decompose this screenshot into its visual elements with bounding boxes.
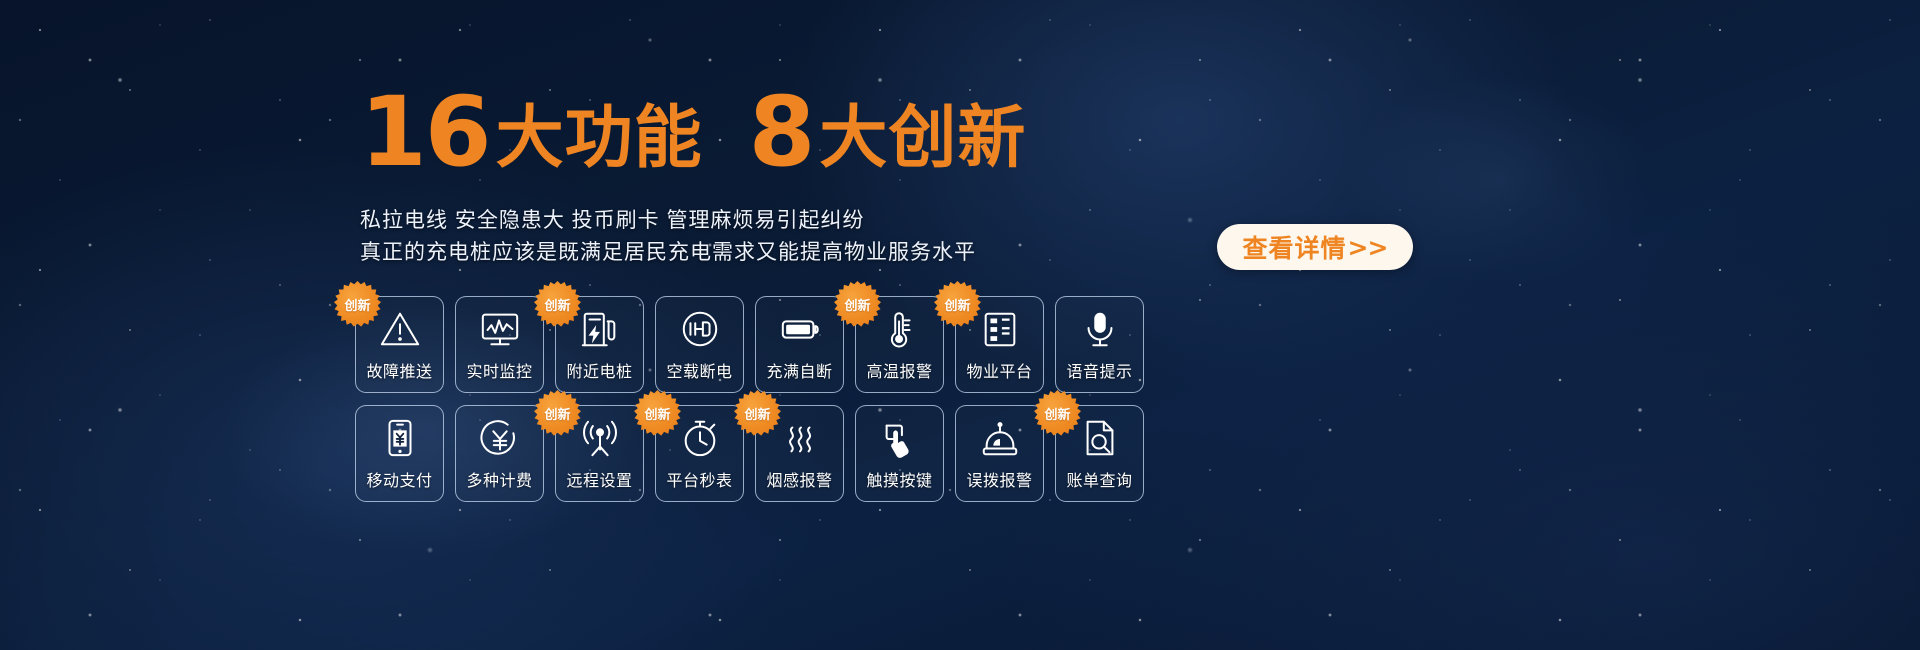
- feature-label: 账单查询: [1066, 467, 1132, 491]
- feature-label: 平台秒表: [666, 467, 732, 491]
- headline-text-innovations: 大创新: [819, 104, 1026, 172]
- view-details-button[interactable]: 查看详情>>: [1217, 224, 1413, 270]
- feature-label: 物业平台: [966, 358, 1032, 382]
- wireless-tower-icon: [577, 415, 623, 461]
- stopwatch-icon: [677, 415, 723, 461]
- feature-tile-故障推送[interactable]: 创新故障推送: [355, 296, 444, 393]
- feature-label: 误拨报警: [966, 467, 1032, 491]
- thermometer-icon: [877, 306, 923, 352]
- feature-tile-附近电桩[interactable]: 创新附近电桩: [555, 296, 644, 393]
- bill-search-icon: [1077, 415, 1123, 461]
- feature-tile-移动支付[interactable]: 移动支付: [355, 405, 444, 502]
- feature-label: 故障推送: [366, 358, 432, 382]
- feature-tile-物业平台[interactable]: 创新物业平台: [955, 296, 1044, 393]
- feature-tile-空载断电[interactable]: 空载断电: [655, 296, 744, 393]
- smoke-detector-icon: [777, 415, 823, 461]
- feature-tile-远程设置[interactable]: 创新远程设置: [555, 405, 644, 502]
- feature-grid: 创新故障推送实时监控创新附近电桩空载断电充满自断创新高温报警创新物业平台语音提示…: [355, 296, 1144, 502]
- feature-label: 远程设置: [566, 467, 632, 491]
- feature-row-1: 创新故障推送实时监控创新附近电桩空载断电充满自断创新高温报警创新物业平台语音提示: [355, 296, 1144, 393]
- battery-full-icon: [777, 306, 823, 352]
- warning-triangle-icon: [377, 306, 423, 352]
- feature-label: 语音提示: [1066, 358, 1132, 382]
- innovation-badge: 创新: [334, 281, 381, 328]
- mobile-payment-icon: [377, 415, 423, 461]
- feature-label: 实时监控: [466, 358, 532, 382]
- feature-tile-烟感报警[interactable]: 创新烟感报警: [755, 405, 844, 502]
- feature-label: 空载断电: [666, 358, 732, 382]
- feature-tile-充满自断[interactable]: 充满自断: [755, 296, 844, 393]
- feature-label: 移动支付: [366, 467, 432, 491]
- feature-tile-语音提示[interactable]: 语音提示: [1055, 296, 1144, 393]
- feature-label: 充满自断: [766, 358, 832, 382]
- double-chevron-right-icon: >>: [1348, 233, 1388, 262]
- promo-banner: 16 大功能 8 大创新 私拉电线 安全隐患大 投币刷卡 管理麻烦易引起纠纷 真…: [0, 0, 1920, 650]
- subtitle-line-2: 真正的充电桩应该是既满足居民充电需求又能提高物业服务水平: [360, 237, 976, 269]
- feature-row-2: 移动支付多种计费创新远程设置创新平台秒表创新烟感报警触摸按键误拨报警创新账单查询: [355, 405, 1144, 502]
- alarm-bell-icon: [977, 415, 1023, 461]
- microphone-icon: [1077, 306, 1123, 352]
- subtitle-line-1: 私拉电线 安全隐患大 投币刷卡 管理麻烦易引起纠纷: [360, 205, 976, 237]
- feature-tile-触摸按键[interactable]: 触摸按键: [855, 405, 944, 502]
- headline-text-functions: 大功能: [496, 104, 703, 172]
- feature-label: 多种计费: [466, 467, 532, 491]
- headline-number-16: 16: [360, 88, 490, 176]
- feature-label: 高温报警: [866, 358, 932, 382]
- headline: 16 大功能 8 大创新: [360, 88, 1026, 176]
- power-plug-circle-icon: [677, 306, 723, 352]
- feature-tile-实时监控[interactable]: 实时监控: [455, 296, 544, 393]
- feature-label: 附近电桩: [566, 358, 632, 382]
- headline-number-8: 8: [749, 88, 814, 176]
- touch-hand-icon: [877, 415, 923, 461]
- view-details-label: 查看详情: [1243, 229, 1347, 265]
- feature-label: 烟感报警: [766, 467, 832, 491]
- building-icon: [977, 306, 1023, 352]
- monitor-waveform-icon: [477, 306, 523, 352]
- feature-tile-高温报警[interactable]: 创新高温报警: [855, 296, 944, 393]
- feature-tile-误拨报警[interactable]: 误拨报警: [955, 405, 1044, 502]
- feature-label: 触摸按键: [866, 467, 932, 491]
- feature-tile-多种计费[interactable]: 多种计费: [455, 405, 544, 502]
- feature-tile-平台秒表[interactable]: 创新平台秒表: [655, 405, 744, 502]
- charging-station-icon: [577, 306, 623, 352]
- subtitle-block: 私拉电线 安全隐患大 投币刷卡 管理麻烦易引起纠纷 真正的充电桩应该是既满足居民…: [360, 205, 976, 269]
- feature-tile-账单查询[interactable]: 创新账单查询: [1055, 405, 1144, 502]
- yuan-coin-icon: [477, 415, 523, 461]
